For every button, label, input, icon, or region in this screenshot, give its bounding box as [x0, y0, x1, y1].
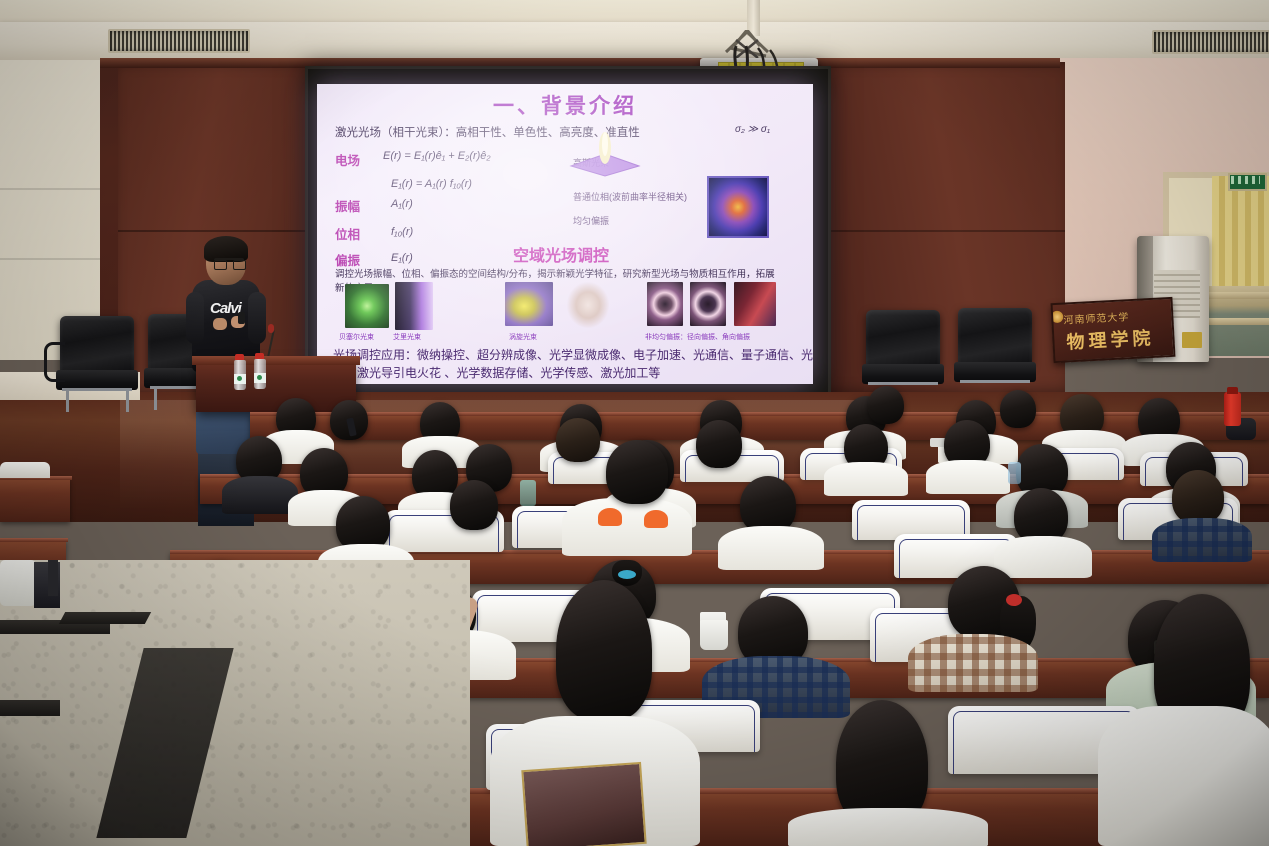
- podium-top-surface: [192, 356, 360, 365]
- water-bottle-2: [254, 359, 266, 389]
- lecture-hall-photo: 一、背景介绍 激光光场（相干光束）：高相干性、单色性、高亮度、准直性 σ₂ ≫ …: [0, 0, 1269, 846]
- thumb-radial-polarization: [647, 282, 683, 326]
- university-emblem-icon: [1051, 311, 1064, 324]
- student-head-r1-2: [556, 580, 652, 720]
- slide-note-ordinary-phase: 普通位相(波前曲率半径相关): [573, 190, 687, 203]
- slide-label-amplitude: 振幅: [335, 196, 360, 215]
- student-shoulders-r3-6: [1152, 518, 1252, 562]
- student-shoulders-r4-9: [926, 460, 1010, 494]
- slide-eq-5: E₁(r): [391, 252, 413, 264]
- student-head-r5-10: [868, 386, 904, 424]
- student-shoulders-r4-8: [824, 462, 908, 496]
- student-shoulders-r3-5: [994, 536, 1092, 578]
- slide-title: 一、背景介绍: [317, 90, 813, 120]
- speaker-left-hand: [213, 318, 227, 330]
- caption-vortex: 涡旋光束: [509, 332, 537, 342]
- slide-body-line-1: 调控光场振幅、位相、偏振态的空间结构/分布，揭示新颖光学特征，研究新型光场与物质…: [335, 266, 775, 280]
- student-head-r4-5: [556, 418, 600, 462]
- slide-sigma-note: σ₂ ≫ σ₁: [735, 124, 770, 135]
- emergency-exit-sign: [1228, 173, 1267, 191]
- speaker-glasses-icon: [214, 258, 244, 268]
- presenter-clicker: [238, 312, 245, 324]
- slide-note-uniform-pol: 均匀偏振: [573, 214, 609, 227]
- slide-eq-1: E(r) = E₁(r)ê₁ + E₂(r)ê₂: [383, 150, 491, 162]
- student-shoulders-r4-1: [222, 476, 298, 514]
- student-head-r3-7: [606, 440, 668, 504]
- podium: [196, 360, 356, 412]
- red-water-bottle: [1224, 392, 1241, 426]
- student-shoulders-r1-3: [1098, 706, 1269, 846]
- hair-tie-2: [1006, 594, 1022, 606]
- exit-sign-text-icon: [1231, 176, 1260, 184]
- side-table-top-2: [1204, 318, 1269, 325]
- student-shoulders-r3-4: [718, 526, 824, 570]
- front-left-desk-2-edge: [0, 538, 68, 542]
- microphone-icon: [268, 324, 274, 333]
- shirt-graphic-4: [644, 510, 668, 528]
- air-conditioner-badge: [1182, 332, 1202, 348]
- panel-seam-left: [118, 230, 318, 232]
- slide-footer-line-2: 弹、激光导引电火花 、光学数据存储、光学传感、激光加工等: [333, 364, 660, 381]
- sign-university-name: 河南师范大学: [1063, 308, 1130, 326]
- student-head-r4-7: [696, 420, 742, 468]
- thumb-airy-beam: [395, 282, 433, 330]
- red-bottle-cap: [1227, 387, 1238, 394]
- thumb-azimuthal-polarization: [690, 282, 726, 326]
- shirt-graphic-3: [598, 508, 622, 526]
- front-left-seatback: [0, 462, 50, 478]
- aisle-floor: [0, 560, 470, 846]
- projection-screen: 一、背景介绍 激光光场（相干光束）：高相干性、单色性、高亮度、准直性 σ₂ ≫ …: [317, 84, 813, 384]
- thumb-structured-beam: [567, 282, 609, 328]
- stair-nosing-3: [59, 612, 151, 624]
- slide-section-heading: 空域光场调控: [513, 242, 609, 266]
- gaussian-beam-figure-icon: [567, 132, 643, 178]
- caption-nonuniform: 非均匀偏振：径向偏振、角向偏振: [645, 332, 750, 342]
- paper-cup-2: [700, 620, 728, 650]
- sign-department-name: 物理学院: [1066, 324, 1155, 355]
- student-shoulders-r3-7: [562, 498, 692, 556]
- caption-airy: 艾里光束: [393, 332, 421, 342]
- slide-label-efield: 电场: [335, 150, 360, 169]
- speaker-left-arm: [186, 292, 204, 344]
- speaker-right-arm: [248, 292, 266, 344]
- air-vent-left-icon: [108, 29, 250, 53]
- water-bottle-1: [234, 360, 246, 390]
- foreground-tablet-desk: [521, 762, 646, 846]
- caption-bessel: 贝塞尔光束: [339, 332, 374, 342]
- slide-eq-3: A₁(r): [391, 198, 413, 210]
- slide-eq-4: f₁₀(r): [391, 226, 413, 238]
- thumb-vortex-beam: [505, 282, 553, 326]
- front-left-desk-1: [0, 478, 70, 522]
- slide-label-phase: 位相: [335, 224, 360, 243]
- student-head-r3-6: [1172, 470, 1224, 524]
- department-sign: 河南师范大学 物理学院: [1051, 297, 1176, 363]
- panel-seam-right: [815, 230, 1065, 232]
- desk-leg-1: [48, 560, 58, 596]
- donut-intensity-figure-icon: [707, 176, 769, 238]
- slide-eq-2: E₁(r) = A₁(r) f₁₀(r): [391, 178, 472, 190]
- bottle-green-1: [520, 480, 536, 506]
- air-vent-right-icon: [1152, 30, 1269, 54]
- slide-footer-line-1: 光场调控应用：微纳操控、超分辨成像、光学显微成像、电子加速、光通信、量子通信、光…: [333, 346, 813, 363]
- student-shoulders-r2-5: [908, 634, 1038, 692]
- student-head-r5-11: [1000, 390, 1036, 428]
- bottle-blue-1: [1008, 462, 1021, 484]
- audience-desk-row-5-edge: [250, 412, 1269, 416]
- student-head-r3-3: [450, 480, 498, 530]
- student-shoulders-r1-4: [788, 808, 988, 846]
- thumb-bessel-beam: [345, 284, 389, 328]
- student-leg-far-1: [0, 560, 36, 606]
- hair-tie-1: [618, 570, 636, 579]
- thumb-experiment-setup: [734, 282, 776, 326]
- stair-nosing-2: [0, 700, 60, 716]
- chair-armrest: [44, 342, 65, 382]
- speaker-shirt-text: Calvi: [210, 300, 241, 317]
